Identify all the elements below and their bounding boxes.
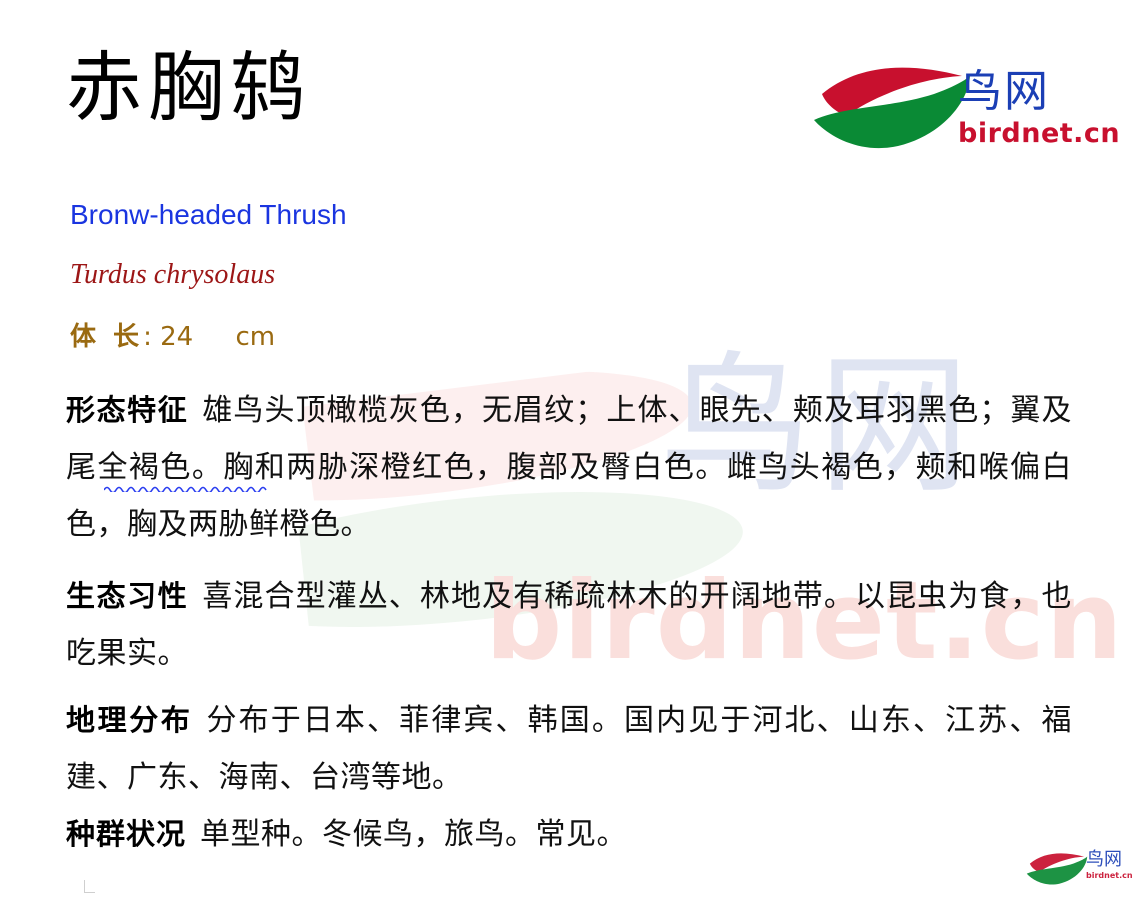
birdnet-logo-corner-chinese: 鸟网 (1086, 851, 1122, 869)
bird-field-guide-page: 鸟网 birdnet.cn 鸟网 birdnet.cn 赤胸鸫 Bronw-he… (0, 0, 1141, 898)
english-name: Bronw-headed Thrush (70, 198, 347, 232)
section-population-body: 单型种。冬候鸟，旅鸟。常见。 (200, 818, 627, 851)
section-morphology: 形态特征雄鸟头顶橄榄灰色，无眉纹；上体、眼先、颊及耳羽黑色；翼及尾全褐色。胸和两… (66, 382, 1072, 553)
section-ecology: 生态习性喜混合型灌丛、林地及有稀疏林木的开阔地带。以昆虫为食，也吃果实。 (66, 568, 1072, 682)
birdnet-logo: 鸟网 birdnet.cn (812, 60, 1050, 164)
body-length-row: 体 长: 24 cm (70, 322, 275, 353)
body-length-value: 24 (160, 322, 193, 352)
text-cursor-mark (84, 880, 95, 893)
birdnet-logo-latin: birdnet.cn (958, 120, 1120, 147)
birdnet-logo-corner-latin: birdnet.cn (1086, 872, 1133, 880)
birdnet-swoosh-corner-icon (1026, 850, 1088, 888)
section-range-heading: 地理分布 (66, 703, 192, 737)
section-range-body: 分布于日本、菲律宾、韩国。国内见于河北、山东、江苏、福建、广东、海南、台湾等地。 (66, 704, 1072, 794)
page-title: 赤胸鸫 (66, 50, 312, 126)
section-ecology-body: 喜混合型灌丛、林地及有稀疏林木的开阔地带。以昆虫为食，也吃果实。 (66, 580, 1072, 670)
birdnet-swoosh-icon (812, 60, 972, 156)
body-length-separator: : (143, 322, 152, 352)
section-population-heading: 种群状况 (66, 817, 186, 851)
section-population: 种群状况单型种。冬候鸟，旅鸟。常见。 (66, 806, 1072, 863)
section-range: 地理分布分布于日本、菲律宾、韩国。国内见于河北、山东、江苏、福建、广东、海南、台… (66, 692, 1072, 806)
scientific-name: Turdus chrysolaus (70, 258, 275, 292)
body-length-unit: cm (235, 322, 275, 352)
section-ecology-heading: 生态习性 (66, 579, 188, 613)
birdnet-logo-corner: 鸟网 birdnet.cn (1026, 848, 1134, 892)
section-morphology-body: 雄鸟头顶橄榄灰色，无眉纹；上体、眼先、颊及耳羽黑色；翼及尾全褐色。胸和两胁深橙红… (66, 394, 1072, 541)
section-morphology-heading: 形态特征 (66, 393, 188, 427)
birdnet-logo-chinese: 鸟网 (958, 70, 1050, 114)
body-length-label: 体 长 (70, 322, 143, 352)
